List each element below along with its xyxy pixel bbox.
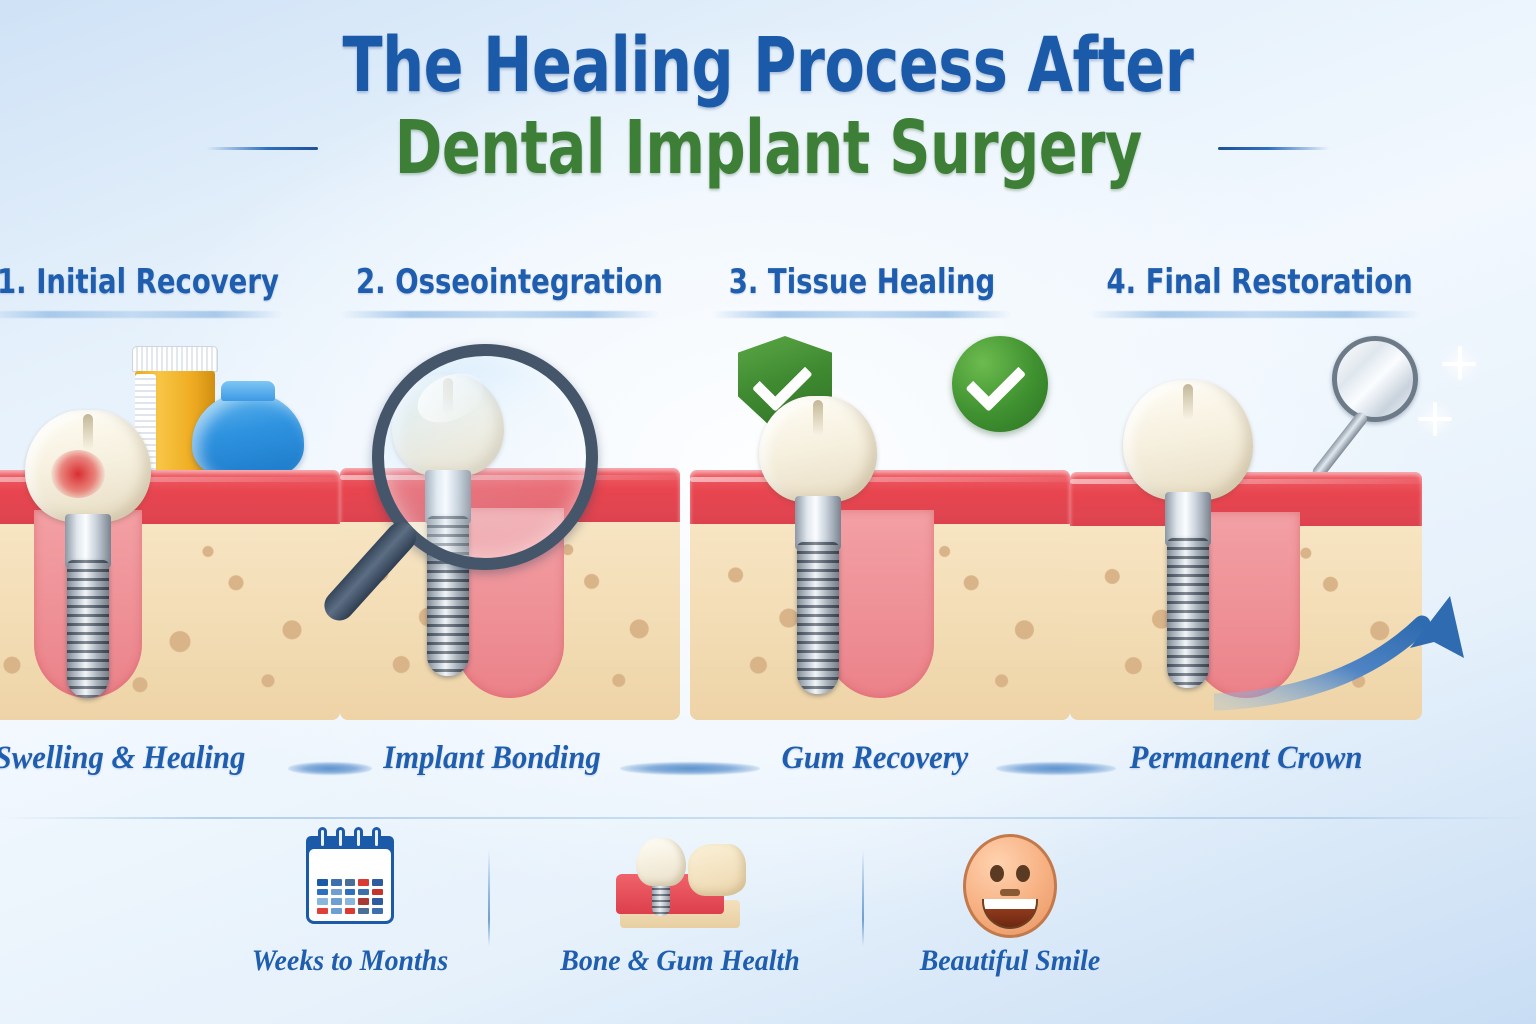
footer-item-health: Bone & Gum Health [530,830,830,978]
footer-divider [0,817,1536,819]
smiley-eye-left [990,865,1004,882]
caption-connector-2 [620,762,760,775]
bone-chip [688,844,746,896]
step-header-2-underline [340,311,660,318]
caption-3: Gum Recovery [750,740,1000,777]
step-header-2: 2. Osseointegration [340,262,660,318]
step-header-3: 3. Tissue Healing [712,262,1012,318]
smiley-nose [1000,889,1020,896]
infographic-canvas: The Healing Process After Dental Implant… [0,0,1536,1024]
caption-1: Swelling & Healing [0,740,270,777]
caption-4-label: Permanent Crown [1116,740,1376,777]
caption-4: Permanent Crown [1106,740,1386,777]
calendar-glyph [306,836,394,924]
implant-screw [1167,538,1209,688]
calendar-body [306,846,394,924]
step-header-1-label: 1. Initial Recovery [0,262,267,302]
footer-label-smile: Beautiful Smile [898,944,1121,978]
implant-screw [652,882,670,916]
subtitle-row: Dental Implant Surgery [0,108,1536,188]
step-header-4-label: 4. Final Restoration [1107,262,1404,302]
step-header-1-underline [0,311,282,318]
caption-1-label: Swelling & Healing [0,740,260,777]
mirror-stem [1310,410,1369,481]
dental-implant-1 [23,410,153,670]
caption-connector-3 [996,762,1116,775]
caption-2: Implant Bonding [362,740,622,777]
implant-crown [25,410,151,522]
caption-3-label: Gum Recovery [759,740,992,777]
step-headers: 1. Initial Recovery 2. Osseointegration … [0,262,1536,322]
title-rule-right [1218,147,1330,150]
smiley-mouth [982,899,1038,929]
tooth-bone-icon [530,830,830,934]
implant-crown [1123,380,1253,500]
implant-crown [759,396,877,502]
step-captions: Swelling & Healing Implant Bonding Gum R… [0,740,1536,800]
step-header-1: 1. Initial Recovery [0,262,282,318]
smiley-face-icon [890,830,1130,934]
caption-2-label: Implant Bonding [371,740,613,777]
footer-item-smile: Beautiful Smile [890,830,1130,978]
step-header-3-label: 3. Tissue Healing [727,262,997,302]
footer-item-duration: Weeks to Months [230,830,470,978]
illustration-panel-2 [340,330,680,730]
step-header-2-label: 2. Osseointegration [356,262,644,302]
footer-separator-2 [862,850,864,946]
smiley-eye-right [1016,865,1030,882]
smiley-glyph [963,834,1057,938]
implant-screw [797,542,839,694]
title-rule-left [206,147,318,150]
footer-summary: Weeks to Months Bone & Gum Health [0,830,1536,1024]
tooth-bone-glyph [610,836,750,928]
ice-pack [192,392,304,478]
dental-implant-3 [755,396,881,686]
magnifying-glass [372,344,598,570]
inflammation-spot [51,450,105,498]
pill-bottle-cap [132,346,218,372]
tooth-crown [636,838,686,886]
footer-label-health: Bone & Gum Health [541,944,820,978]
illustration-panel-4 [1070,330,1536,730]
implant-screw [67,560,109,698]
title-block: The Healing Process After Dental Implant… [0,24,1536,188]
page-title-line2: Dental Implant Surgery [394,108,1141,188]
calendar-icon [230,830,470,934]
caption-connector-1 [288,762,372,775]
green-circle-check-icon [952,336,1048,432]
step-header-3-underline [712,311,1012,318]
footer-separator-1 [488,850,490,946]
sparkle-icon [1432,416,1438,422]
page-title-line1: The Healing Process After [108,24,1429,106]
sparkle-icon [1456,360,1464,368]
illustration-panel-3 [690,330,1070,730]
calendar-grid [317,879,383,914]
progress-arrow-icon [1214,562,1514,712]
mirror-head [1332,336,1418,422]
step-header-4-underline [1090,311,1420,318]
illustration-panel-1 [0,330,340,730]
magnifier-glare [410,364,491,433]
illustration-panels [0,330,1536,730]
footer-label-duration: Weeks to Months [238,944,461,978]
step-header-4: 4. Final Restoration [1090,262,1420,318]
